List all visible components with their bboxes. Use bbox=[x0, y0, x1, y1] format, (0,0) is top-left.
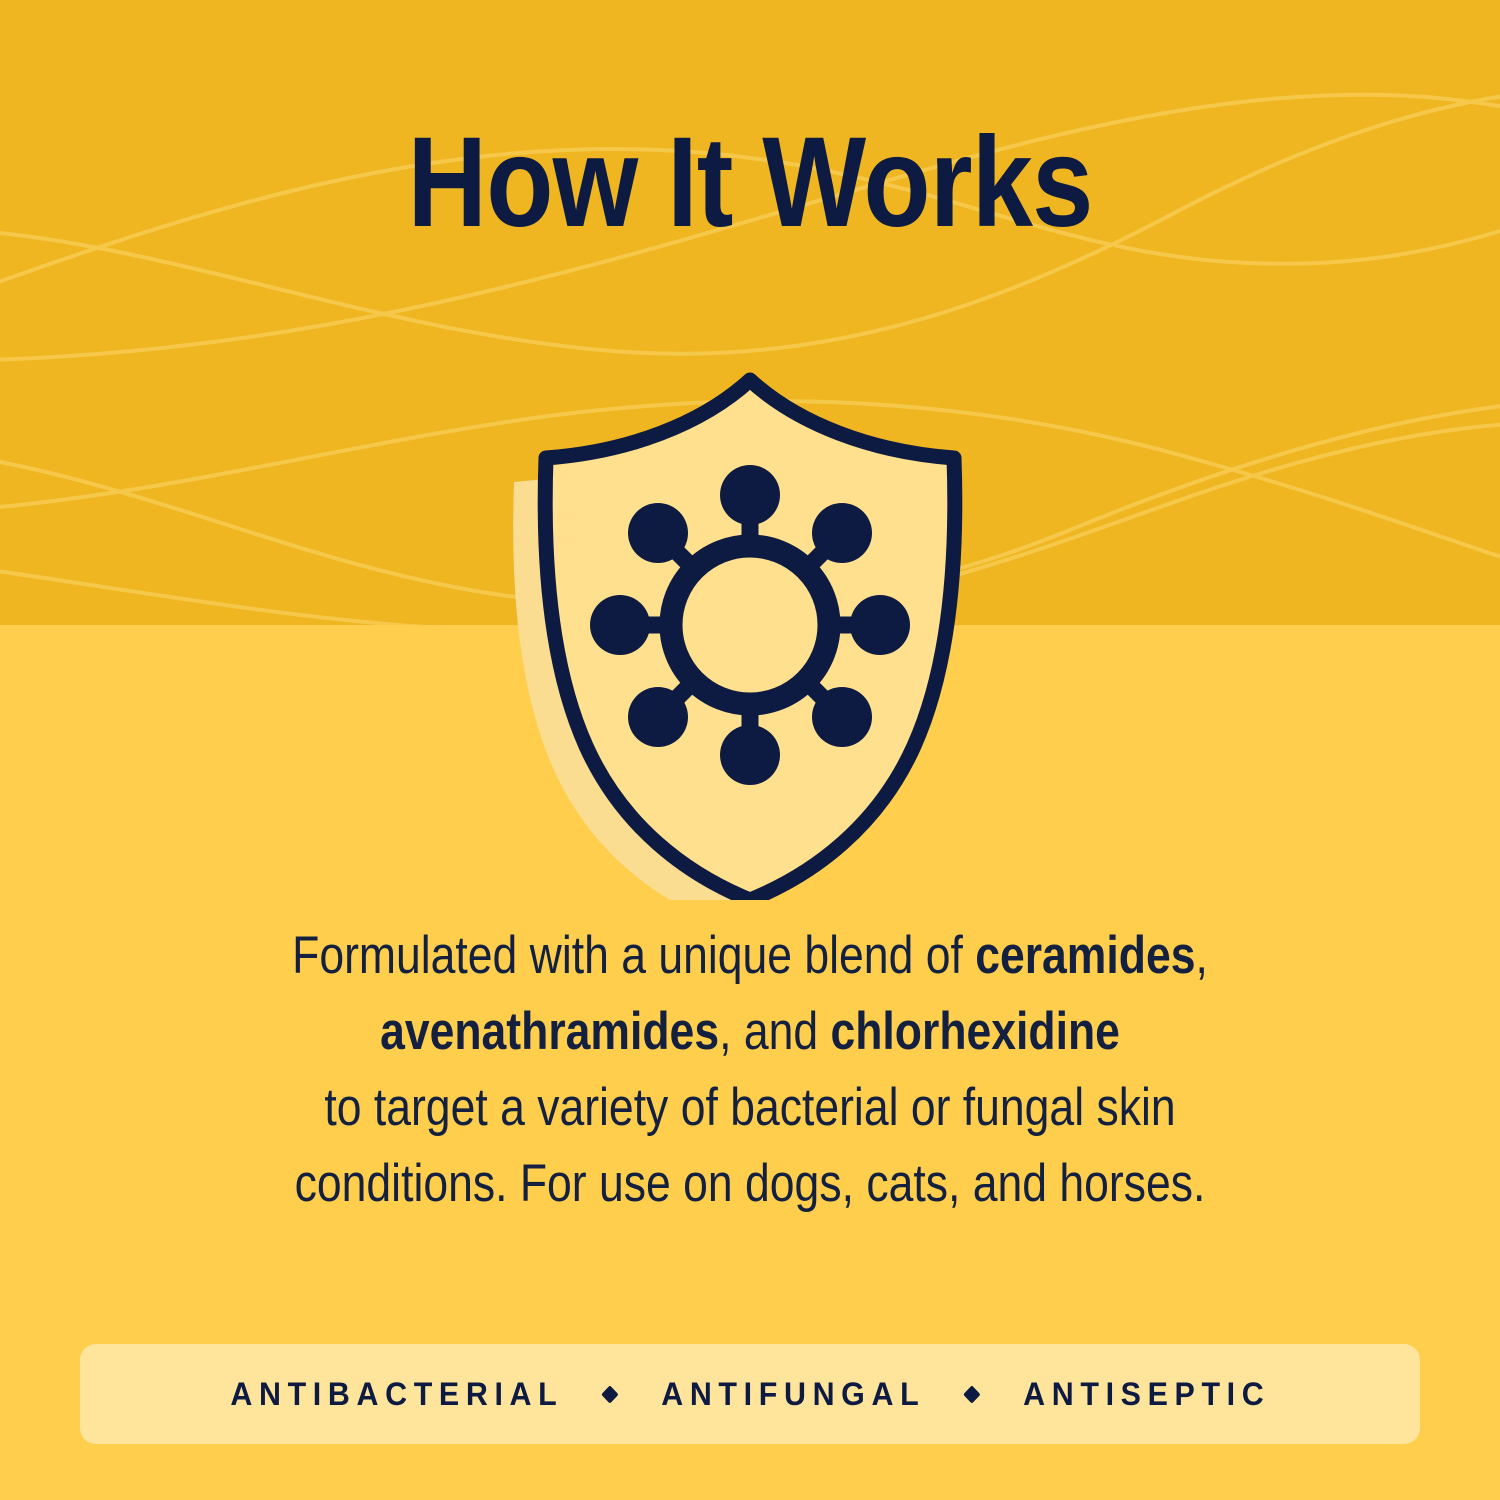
body-line: Formulated with a unique blend of cerami… bbox=[246, 918, 1254, 994]
body-text: , and bbox=[719, 1002, 830, 1061]
body-text: to target a variety of bacterial or fung… bbox=[324, 1078, 1175, 1137]
body-emphasis: chlorhexidine bbox=[830, 1002, 1119, 1061]
body-text: conditions. For use on dogs, cats, and h… bbox=[295, 1154, 1206, 1213]
badge-separator-icon bbox=[600, 1385, 617, 1403]
attribute-badge: ANTIFUNGAL bbox=[659, 1376, 927, 1413]
body-paragraph: Formulated with a unique blend of cerami… bbox=[246, 918, 1254, 1222]
body-emphasis: ceramides bbox=[975, 926, 1195, 985]
attribute-badge-list: ANTIBACTERIALANTIFUNGALANTISEPTIC bbox=[228, 1376, 1272, 1413]
body-text: Formulated with a unique blend of bbox=[292, 926, 975, 985]
attribute-badge: ANTISEPTIC bbox=[1021, 1376, 1272, 1413]
body-line: conditions. For use on dogs, cats, and h… bbox=[246, 1146, 1254, 1222]
body-emphasis: avenathramides bbox=[380, 1002, 719, 1061]
attribute-badge-bar: ANTIBACTERIALANTIFUNGALANTISEPTIC bbox=[80, 1344, 1420, 1444]
how-it-works-card: How It Works bbox=[0, 0, 1500, 1500]
badge-separator-icon bbox=[962, 1385, 979, 1403]
body-text: , bbox=[1195, 926, 1207, 985]
attribute-badge: ANTIBACTERIAL bbox=[228, 1376, 565, 1413]
body-line: to target a variety of bacterial or fung… bbox=[246, 1070, 1254, 1146]
page-title: How It Works bbox=[105, 113, 1395, 253]
body-line: avenathramides, and chlorhexidine bbox=[246, 994, 1254, 1070]
shield-germ-icon bbox=[480, 340, 1040, 900]
microbe-germ bbox=[590, 465, 910, 785]
